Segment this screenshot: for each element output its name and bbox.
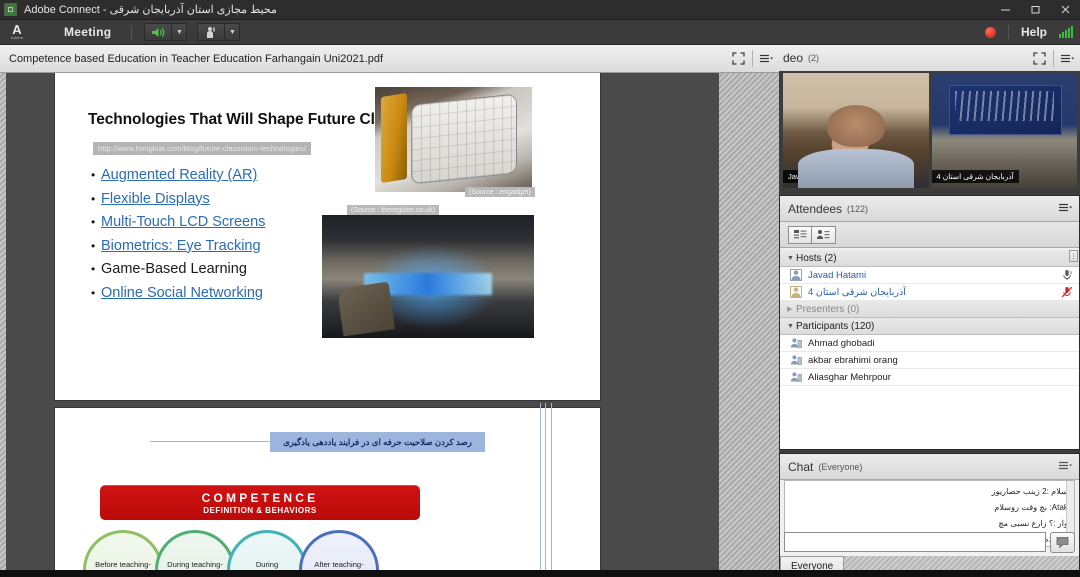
video-tile-label: آذربایجان شرقی استان 4 [932, 170, 1019, 183]
raise-hand-dropdown-caret-icon[interactable]: ▼ [225, 23, 240, 41]
list-item: • Game-Based Learning [91, 261, 351, 277]
video-tile-label: Javad Hatami [783, 170, 839, 183]
chat-message: Atak: بچ وقت روسلام [791, 502, 1068, 512]
list-item-label: Flexible Displays [101, 191, 210, 207]
bullet-marker: • [91, 286, 101, 300]
slide2-banner-label: رصد کردن صلاحیت حرفه ای در فرایند یاددهی… [283, 437, 472, 448]
video-pod-actions [1025, 50, 1080, 67]
slide1-multitouch-table-photo [322, 215, 534, 338]
list-item[interactable]: akbar ebrahimi orang [780, 352, 1079, 369]
chevron-down-icon: ▼ [787, 323, 796, 330]
host-user-icon [790, 286, 802, 298]
speaker-icon[interactable] [144, 23, 172, 41]
slide2-competence-title: COMPETENCE [202, 491, 319, 505]
pod-menu-icon[interactable] [1059, 461, 1072, 473]
signal-strength-icon[interactable] [1059, 26, 1073, 38]
menu-help[interactable]: Help [1021, 25, 1047, 39]
raise-hand-icon[interactable] [197, 23, 225, 41]
attendees-scrollbar[interactable]: ⋮ [1069, 250, 1078, 262]
fullscreen-icon[interactable] [724, 45, 752, 72]
adobe-logo-icon: A Adobe [6, 22, 28, 43]
share-pod: Competence based Education in Teacher Ed… [0, 45, 779, 577]
slide1-bullet-list: • Augmented Reality (AR) • Flexible Disp… [91, 167, 351, 308]
host-user-icon [790, 269, 802, 281]
slide2-competence-subtitle: DEFINITION & BEHAVIORS [203, 506, 317, 515]
adobe-logo-caption: Adobe [11, 35, 24, 40]
attendee-group-presenters[interactable]: ▶ Presenters (0) [780, 301, 1079, 318]
window-bottom-edge [0, 570, 1080, 577]
document-viewport[interactable]: Technologies That Will Shape Future Clas… [0, 73, 779, 577]
attendee-name: Ahmad ghobadi [808, 338, 875, 349]
card-view-icon[interactable] [812, 226, 836, 244]
attendees-pod: Attendees (122) [779, 195, 1080, 450]
speaker-control-group: ▼ [144, 23, 187, 41]
close-button[interactable] [1050, 0, 1080, 20]
participant-user-icon [790, 337, 802, 349]
attendee-name: Aliasghar Mehrpour [808, 372, 891, 383]
list-item-label: Biometrics: Eye Tracking [101, 238, 261, 254]
share-pod-actions [724, 45, 779, 72]
attendee-name: akbar ebrahimi orang [808, 355, 898, 366]
share-pod-header: Competence based Education in Teacher Ed… [0, 45, 779, 73]
adobe-connect-window: محیط مجازی استان آذربایجان شرقی - Adobe … [0, 0, 1080, 577]
chat-pod-header: Chat (Everyone) [780, 454, 1079, 480]
attendee-group-label: Presenters (0) [796, 304, 859, 315]
menubar-divider [131, 25, 132, 40]
attendees-pod-header: Attendees (122) [780, 196, 1079, 222]
slide1-flexible-display-photo [375, 87, 532, 192]
application-menubar: A Adobe Meeting ▼ ▼ [0, 20, 1080, 45]
send-chat-icon[interactable] [1050, 532, 1075, 553]
video-tile-javad-hatami[interactable]: Javad Hatami [783, 73, 929, 188]
chat-input-row [784, 531, 1075, 553]
video-tile-host-4[interactable]: آذربایجان شرقی استان 4 [932, 73, 1078, 188]
slide-page-1: Technologies That Will Shape Future Clas… [55, 73, 600, 400]
recording-indicator-icon[interactable] [985, 27, 996, 38]
window-title: محیط مجازی استان آذربایجان شرقی - Adobe … [24, 3, 277, 16]
bullet-marker: • [91, 192, 101, 206]
app-icon [4, 3, 17, 16]
list-item[interactable]: Aliasghar Mehrpour [780, 369, 1079, 386]
bullet-marker: • [91, 215, 101, 229]
pod-menu-icon[interactable] [753, 45, 779, 72]
slide2-arch-1-label: Before teaching- [92, 560, 154, 570]
list-item-label: Game-Based Learning [101, 261, 247, 277]
list-view-icon[interactable] [788, 226, 812, 244]
slide1-caption-theregister: (Source : theregister.co.uk) [347, 205, 439, 215]
attendees-count: (122) [847, 204, 868, 214]
attendees-pod-title: Attendees [788, 202, 842, 216]
list-item[interactable]: Ahmad ghobadi [780, 335, 1079, 352]
attendee-group-label: Participants (120) [796, 321, 874, 332]
video-pod: deo (2) [779, 45, 1080, 192]
adobe-logo-mark: A [12, 24, 21, 35]
pod-menu-icon[interactable] [1054, 54, 1080, 63]
speaker-dropdown-caret-icon[interactable]: ▼ [172, 23, 187, 41]
slide2-banner-connector [150, 441, 272, 442]
list-item-label: Online Social Networking [101, 285, 263, 301]
bullet-marker: • [91, 168, 101, 182]
attendees-list[interactable]: ▼ Hosts (2) Javad Hatami [780, 250, 1079, 449]
window-titlebar: محیط مجازی استان آذربایجان شرقی - Adobe … [0, 0, 1080, 20]
list-item-label: Multi-Touch LCD Screens [101, 214, 265, 230]
slide1-source-url: http://www.hongkiat.com/blog/future-clas… [93, 142, 311, 155]
meeting-stage: Competence based Education in Teacher Ed… [0, 45, 1080, 577]
slide1-caption-engadget: (Source : engadget) [465, 187, 535, 197]
pod-menu-icon[interactable] [1059, 203, 1072, 215]
participant-user-icon [790, 371, 802, 383]
list-item[interactable]: آذربایجان شرقی استان 4 [780, 284, 1079, 301]
video-pod-count: (2) [808, 53, 819, 63]
attendee-group-participants[interactable]: ▼ Participants (120) [780, 318, 1079, 335]
participant-user-icon [790, 354, 802, 366]
chat-input[interactable] [784, 532, 1046, 552]
chevron-right-icon: ▶ [787, 305, 796, 313]
menubar-divider-2 [1008, 25, 1009, 39]
microphone-active-icon[interactable] [1061, 269, 1073, 281]
list-item: • Multi-Touch LCD Screens [91, 214, 351, 230]
slide-page-2: رصد کردن صلاحیت حرفه ای در فرایند یاددهی… [55, 408, 600, 577]
chat-pod: Chat (Everyone) سلام :2 زینب حصاریوز Ata… [779, 453, 1080, 577]
list-item-label: Augmented Reality (AR) [101, 167, 257, 183]
chat-scope-label: (Everyone) [818, 462, 862, 472]
chevron-down-icon: ▼ [787, 255, 796, 262]
chat-message: وار :؟ زارع نسبی مچ [791, 518, 1068, 528]
attendee-name: Javad Hatami [808, 270, 866, 281]
chat-pod-title: Chat [788, 460, 813, 474]
slide2-banner: رصد کردن صلاحیت حرفه ای در فرایند یاددهی… [270, 432, 485, 452]
list-item: • Biometrics: Eye Tracking [91, 238, 351, 254]
viewport-right-hatch [719, 73, 779, 577]
attendee-group-label: Hosts (2) [796, 253, 837, 264]
fullscreen-icon[interactable] [1025, 52, 1053, 65]
bullet-marker: • [91, 239, 101, 253]
video-pod-header: deo (2) [779, 45, 1080, 71]
minimize-button[interactable] [990, 0, 1020, 20]
viewport-left-hatch [0, 73, 6, 577]
list-item: • Augmented Reality (AR) [91, 167, 351, 183]
list-item[interactable]: Javad Hatami [780, 267, 1079, 284]
share-pod-title: Competence based Education in Teacher Ed… [9, 53, 383, 65]
attendee-group-hosts[interactable]: ▼ Hosts (2) [780, 250, 1079, 267]
list-item: • Online Social Networking [91, 285, 351, 301]
slide2-competence-box: COMPETENCE DEFINITION & BEHAVIORS [100, 485, 420, 520]
attendees-view-toolbar [780, 222, 1079, 248]
raise-hand-control-group: ▼ [197, 23, 240, 41]
microphone-muted-icon[interactable] [1061, 286, 1073, 298]
maximize-button[interactable] [1020, 0, 1050, 20]
chat-message: سلام :2 زینب حصاریوز [791, 486, 1068, 496]
window-controls [990, 0, 1080, 20]
right-pod-column: deo (2) [779, 45, 1080, 577]
video-tile-grid: Javad Hatami آذربایجان شرقی استان 4 [783, 73, 1077, 188]
list-item: • Flexible Displays [91, 191, 351, 207]
bullet-marker: • [91, 262, 101, 276]
video-pod-title: deo [783, 51, 803, 65]
attendee-name: آذربایجان شرقی استان 4 [808, 287, 906, 298]
slide-edge-lines [540, 403, 556, 577]
menu-meeting[interactable]: Meeting [54, 22, 121, 42]
